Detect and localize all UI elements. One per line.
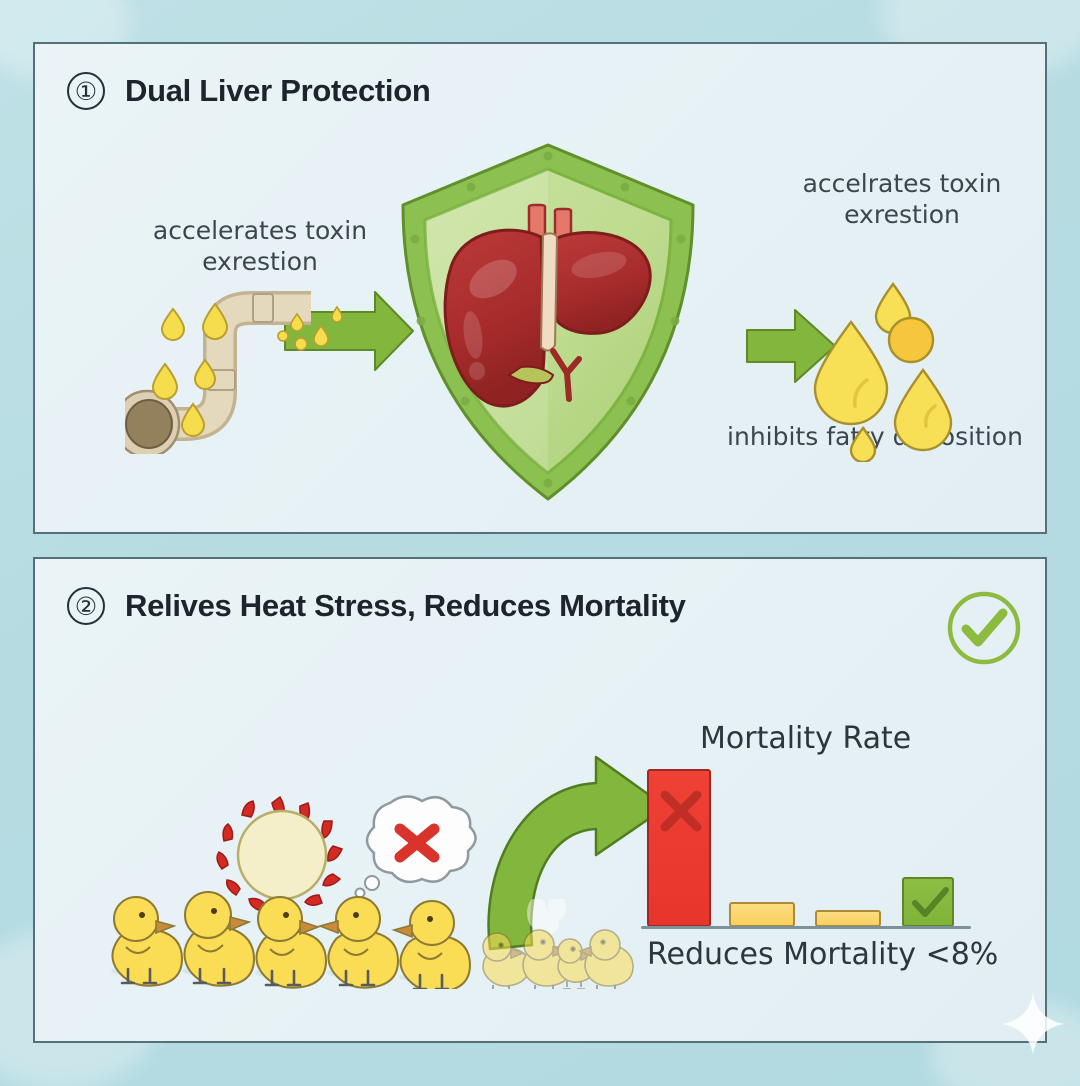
caption-right-toxin: accelrates toxin exrestion <box>777 169 1027 230</box>
chart-title: Mortality Rate <box>700 721 911 756</box>
bar-treated-b <box>815 910 881 927</box>
yellow-droplets-icon <box>815 284 951 462</box>
shield-liver-illustration <box>393 139 703 509</box>
five-chicks-icon <box>111 892 470 989</box>
mortality-bar-chart <box>635 759 1015 939</box>
panel-2-header: ② Relives Heat Stress, Reduces Mortality <box>67 587 686 625</box>
faded-chicks-icon <box>475 899 635 989</box>
page-title: Dual Liver Protection <box>125 73 431 109</box>
drain-pipe-illustration <box>125 274 415 454</box>
bar-treated-c <box>902 877 954 927</box>
thought-bubble-x-icon <box>356 796 476 897</box>
infographic-canvas: ① Dual Liver Protection accelerates toxi… <box>0 0 1080 1086</box>
heat-stressed-chicks-illustration <box>90 789 480 989</box>
chart-caption: Reduces Mortality <8% <box>647 937 998 972</box>
check-circle-icon <box>945 589 1023 667</box>
x-mark-icon <box>665 795 697 827</box>
bar-untreated <box>647 769 711 927</box>
check-mark-icon <box>915 890 946 914</box>
toxin-excretion-illustration <box>743 282 983 462</box>
chart-baseline <box>641 926 971 929</box>
caption-left-toxin: accelerates toxin exrestion <box>135 216 385 277</box>
panel-heat-stress-mortality: ② Relives Heat Stress, Reduces Mortality <box>33 557 1047 1043</box>
panel-number-badge: ② <box>67 587 105 625</box>
panel-1-header: ① Dual Liver Protection <box>67 72 431 110</box>
panel-number-badge: ① <box>67 72 105 110</box>
hot-sun-icon <box>217 797 342 913</box>
panel-dual-liver-protection: ① Dual Liver Protection accelerates toxi… <box>33 42 1047 534</box>
bar-treated-a <box>729 902 795 927</box>
page-title: Relives Heat Stress, Reduces Mortality <box>125 588 686 624</box>
